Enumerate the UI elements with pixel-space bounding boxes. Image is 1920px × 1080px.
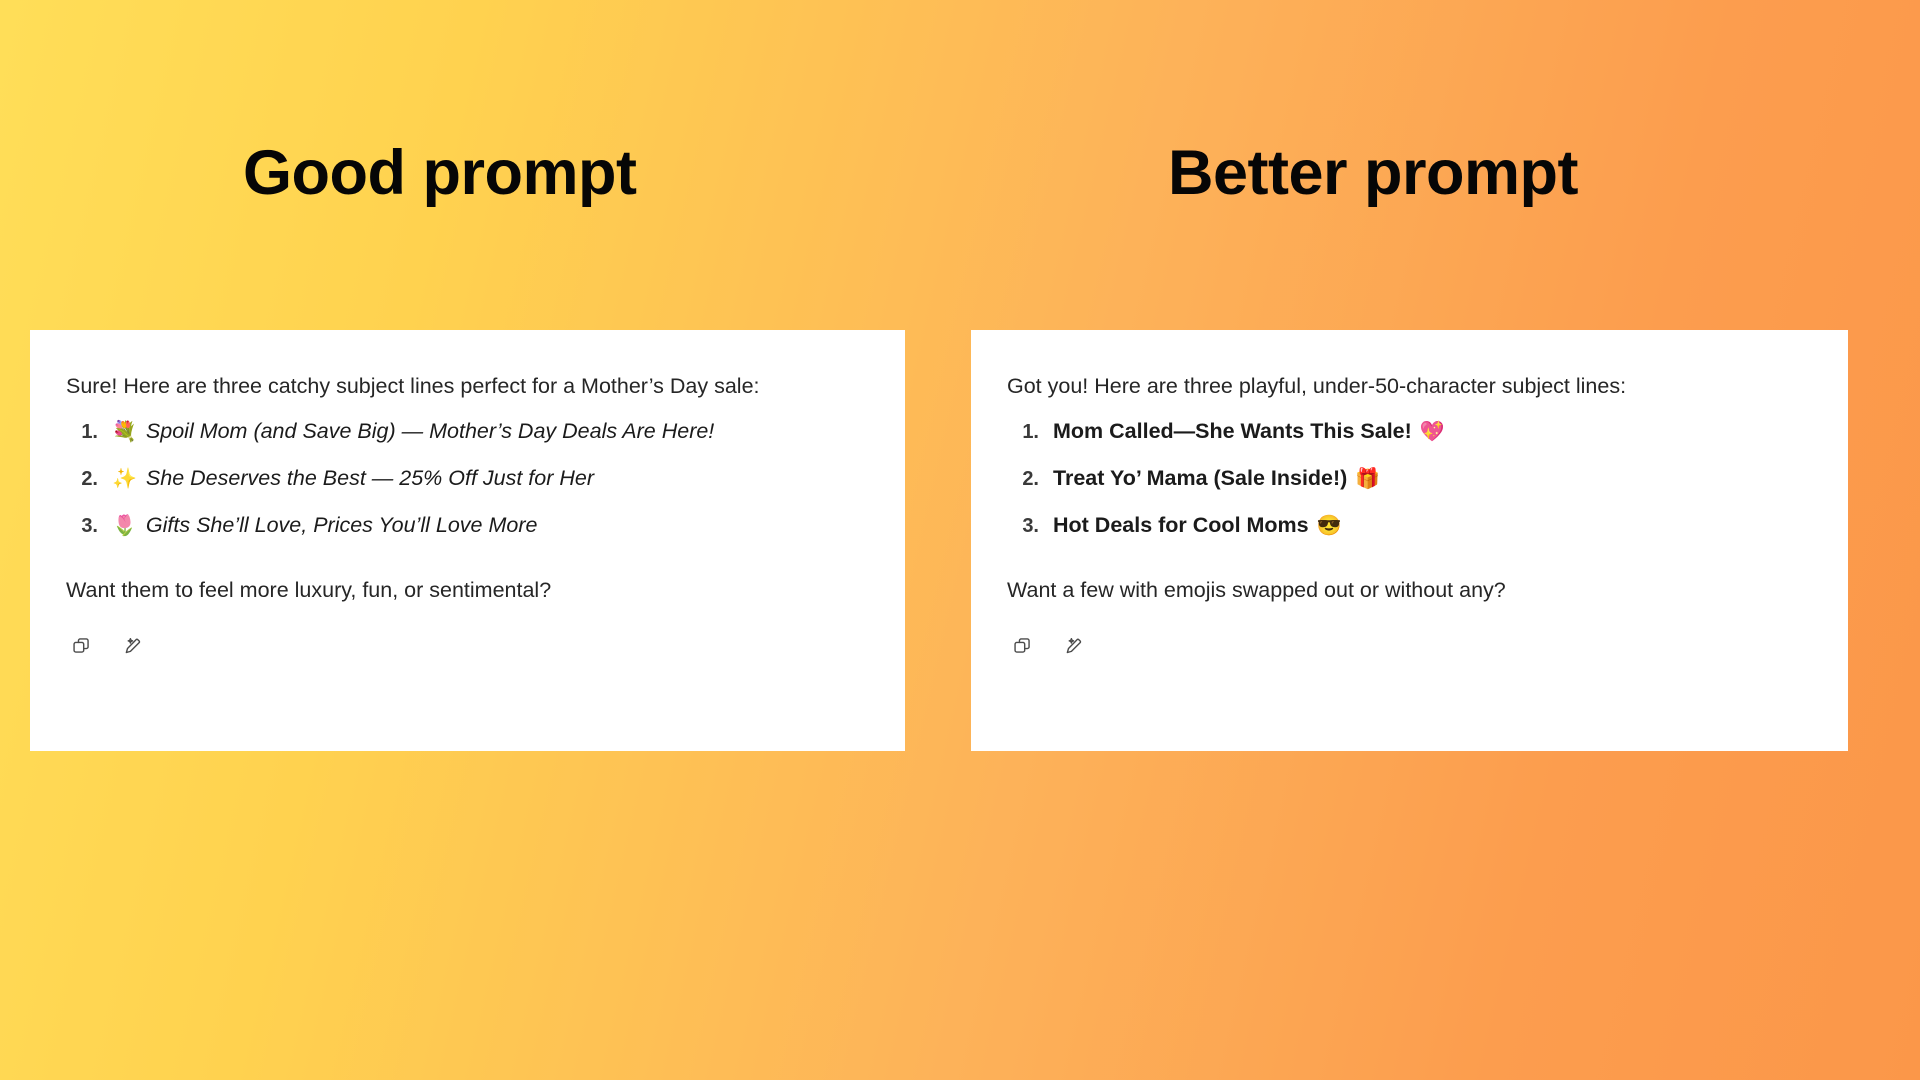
response-card-good-prompt: Sure! Here are three catchy subject line… [30,330,905,751]
list-item-number: 1. [66,419,112,445]
page-title-better-prompt: Better prompt [1168,140,1578,206]
list-item-text: Spoil Mom (and Save Big) — Mother’s Day … [146,418,714,446]
list-item: 2. Treat Yo’ Mama (Sale Inside!) 🎁 [1007,465,1812,493]
list-item-number: 3. [1007,513,1053,539]
response-card-better-prompt: Got you! Here are three playful, under-5… [971,330,1848,751]
tulip-emoji: 🌷 [112,516,137,536]
sparkling-heart-emoji: 💖 [1420,422,1445,442]
response-intro: Got you! Here are three playful, under-5… [1007,372,1812,401]
response-actions [66,631,869,661]
comparison-stage: Good prompt Sure! Here are three catchy … [0,0,1920,1080]
bouquet-emoji: 💐 [112,422,137,442]
response-actions [1007,631,1812,661]
copy-icon[interactable] [1007,631,1037,661]
response-followup-question: Want a few with emojis swapped out or wi… [1007,576,1812,605]
response-intro: Sure! Here are three catchy subject line… [66,372,869,401]
list-item-text: Hot Deals for Cool Moms [1053,512,1309,540]
list-item-number: 2. [66,466,112,492]
page-title-good-prompt: Good prompt [243,140,636,206]
list-item: 2. ✨ She Deserves the Best — 25% Off Jus… [66,465,869,493]
edit-with-ai-icon[interactable] [1058,631,1088,661]
list-item-number: 3. [66,513,112,539]
response-followup-question: Want them to feel more luxury, fun, or s… [66,576,869,605]
gift-emoji: 🎁 [1355,469,1380,489]
list-item: 3. Hot Deals for Cool Moms 😎 [1007,512,1812,540]
list-item-number: 2. [1007,466,1053,492]
subject-line-list: 1. Mom Called—She Wants This Sale! 💖 2. … [1007,418,1812,540]
list-item-text: Mom Called—She Wants This Sale! [1053,418,1412,446]
copy-icon[interactable] [66,631,96,661]
list-item-text: Treat Yo’ Mama (Sale Inside!) [1053,465,1347,493]
list-item-text: Gifts She’ll Love, Prices You’ll Love Mo… [146,512,538,540]
sunglasses-face-emoji: 😎 [1317,516,1342,536]
subject-line-list: 1. 💐 Spoil Mom (and Save Big) — Mother’s… [66,418,869,540]
list-item-text: She Deserves the Best — 25% Off Just for… [146,465,594,493]
sparkles-emoji: ✨ [112,469,137,489]
edit-with-ai-icon[interactable] [117,631,147,661]
list-item: 1. 💐 Spoil Mom (and Save Big) — Mother’s… [66,418,869,446]
list-item-number: 1. [1007,419,1053,445]
list-item: 3. 🌷 Gifts She’ll Love, Prices You’ll Lo… [66,512,869,540]
list-item: 1. Mom Called—She Wants This Sale! 💖 [1007,418,1812,446]
